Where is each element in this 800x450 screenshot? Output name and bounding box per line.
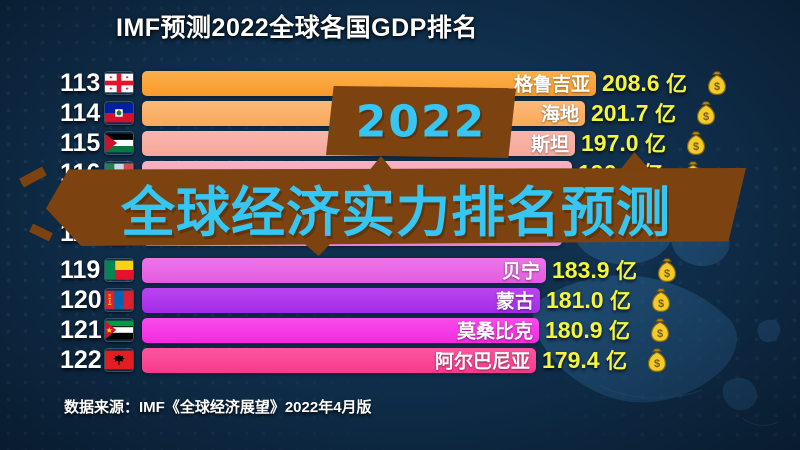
value-unit: 亿 xyxy=(616,260,637,283)
year-badge-label: 2022 xyxy=(326,97,516,148)
value-number: 197.0 xyxy=(581,130,639,156)
chart-row-122: 122阿尔巴尼亚179.4 亿$ xyxy=(60,345,536,375)
value-unit: 亿 xyxy=(610,290,631,313)
country-label: 格鲁吉亚 xyxy=(514,70,590,97)
svg-text:$: $ xyxy=(658,298,664,310)
value-label: 179.4 亿 xyxy=(542,345,627,375)
svg-text:$: $ xyxy=(693,141,699,153)
mongolia-flag xyxy=(104,288,134,312)
svg-text:$: $ xyxy=(657,328,663,340)
year-badge-2022: 2022 xyxy=(326,86,516,158)
value-unit: 亿 xyxy=(655,103,676,126)
value-label: 208.6 亿 xyxy=(602,68,687,98)
svg-text:$: $ xyxy=(714,81,720,93)
country-label: 阿尔巴尼亚 xyxy=(435,347,530,374)
albania-flag xyxy=(104,348,134,372)
value-unit: 亿 xyxy=(666,73,687,96)
value-label: 181.0 亿 xyxy=(546,285,631,315)
value-number: 183.9 xyxy=(552,257,610,283)
money-bag-icon: $ xyxy=(685,131,707,155)
chart-row-120: 120蒙古181.0 亿$ xyxy=(60,285,540,315)
rank-label: 113 xyxy=(60,71,104,96)
value-number: 179.4 xyxy=(542,347,600,373)
bar: 阿尔巴尼亚 xyxy=(142,348,536,373)
bar: 莫桑比克 xyxy=(142,318,539,343)
money-bag-icon: $ xyxy=(650,288,672,312)
bar: 贝宁 xyxy=(142,258,546,283)
rank-label: 114 xyxy=(60,101,104,126)
country-label: 斯坦 xyxy=(531,130,569,157)
money-bag-icon: $ xyxy=(646,348,668,372)
bar: 蒙古 xyxy=(142,288,540,313)
money-bag-icon: $ xyxy=(656,258,678,282)
country-label: 海地 xyxy=(541,100,579,127)
palestine-flag xyxy=(104,131,134,155)
georgia-flag xyxy=(104,71,134,95)
page-title: IMF预测2022全球各国GDP排名 xyxy=(116,8,478,44)
country-label: 贝宁 xyxy=(502,257,540,284)
value-unit: 亿 xyxy=(606,350,627,373)
chart-row-121: 121莫桑比克180.9 亿$ xyxy=(60,315,539,345)
chart-row-119: 119贝宁183.9 亿$ xyxy=(60,255,546,285)
rank-label: 122 xyxy=(60,348,104,373)
value-number: 208.6 xyxy=(602,70,660,96)
value-unit: 亿 xyxy=(645,133,666,156)
value-number: 201.7 xyxy=(591,100,649,126)
value-label: 183.9 亿 xyxy=(552,255,637,285)
svg-text:$: $ xyxy=(664,268,670,280)
mozambique-flag xyxy=(104,318,134,342)
money-bag-icon: $ xyxy=(695,101,717,125)
value-number: 180.9 xyxy=(545,317,603,343)
value-label: 180.9 亿 xyxy=(545,315,630,345)
money-bag-icon: $ xyxy=(706,71,728,95)
country-label: 蒙古 xyxy=(496,287,534,314)
data-source-note: 数据来源：IMF《全球经济展望》2022年4月版 xyxy=(64,396,372,417)
rank-label: 120 xyxy=(60,288,104,313)
svg-text:$: $ xyxy=(654,358,660,370)
value-label: 197.0 亿 xyxy=(581,128,666,158)
value-label: 201.7 亿 xyxy=(591,98,676,128)
rank-label: 115 xyxy=(60,131,104,156)
svg-text:$: $ xyxy=(703,111,709,123)
rank-label: 119 xyxy=(60,258,104,283)
country-label: 莫桑比克 xyxy=(457,317,533,344)
benin-flag xyxy=(104,258,134,282)
money-bag-icon: $ xyxy=(649,318,671,342)
main-banner: 全球经济实力排名预测 xyxy=(46,168,746,246)
value-unit: 亿 xyxy=(609,320,630,343)
value-number: 181.0 xyxy=(546,287,604,313)
chart-row-113: 113格鲁吉亚208.6 亿$ xyxy=(60,68,596,98)
main-banner-label: 全球经济实力排名预测 xyxy=(121,168,671,247)
rank-label: 121 xyxy=(60,318,104,343)
haiti-flag xyxy=(104,101,134,125)
